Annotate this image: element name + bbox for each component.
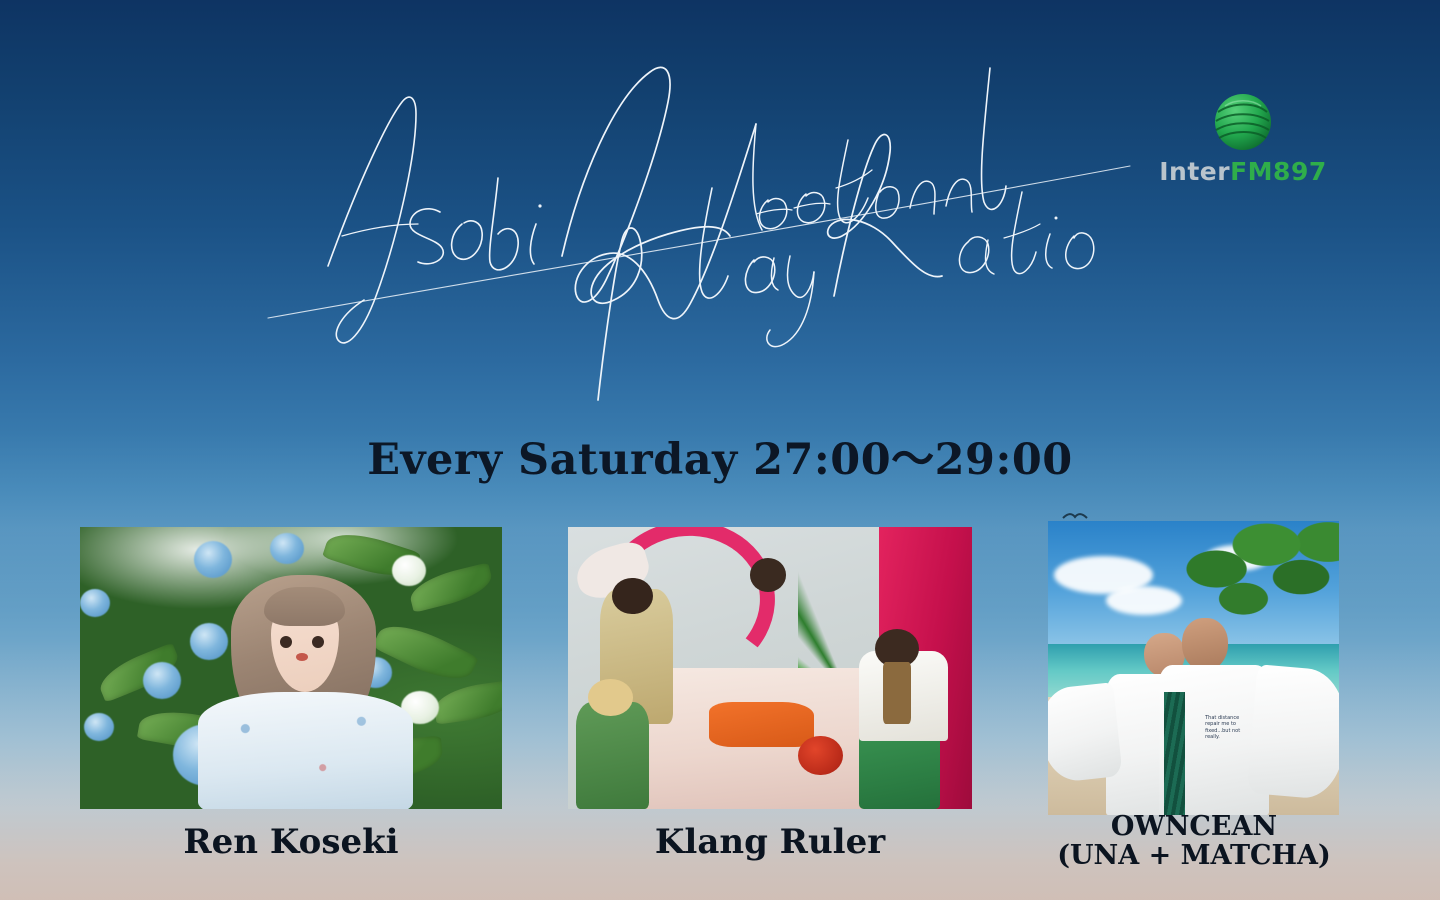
guest-name-owncean: OWNCEAN (UNA + MATCHA)	[1018, 812, 1370, 870]
guest-name-owncean-line1: OWNCEAN	[1018, 812, 1370, 841]
station-wordmark-prefix: Inter	[1159, 157, 1230, 186]
guest-photo-owncean: That distancerepair me tofixed...but not…	[1048, 521, 1339, 815]
guest-photo-klang-ruler	[568, 527, 972, 809]
green-globe-icon	[1148, 90, 1338, 158]
guest-name-owncean-line2: (UNA + MATCHA)	[1018, 841, 1370, 870]
shirt-print-text: That distancerepair me tofixed...but not…	[1205, 715, 1292, 740]
guest-name-klang-ruler: Klang Ruler	[568, 824, 972, 861]
bird-decoration	[1062, 512, 1088, 520]
station-wordmark: InterFM897	[1148, 159, 1338, 184]
station-logo: InterFM897	[1148, 90, 1338, 195]
broadcast-schedule: Every Saturday 27:00〜29:00	[0, 425, 1440, 487]
program-script-logo	[250, 28, 1150, 418]
station-wordmark-suffix: FM897	[1230, 157, 1327, 186]
guest-name-ren-koseki: Ren Koseki	[80, 824, 502, 861]
radio-program-poster: InterFM897 Every Saturday 27:00〜29:00	[0, 0, 1440, 900]
guest-photo-ren-koseki	[80, 527, 502, 809]
